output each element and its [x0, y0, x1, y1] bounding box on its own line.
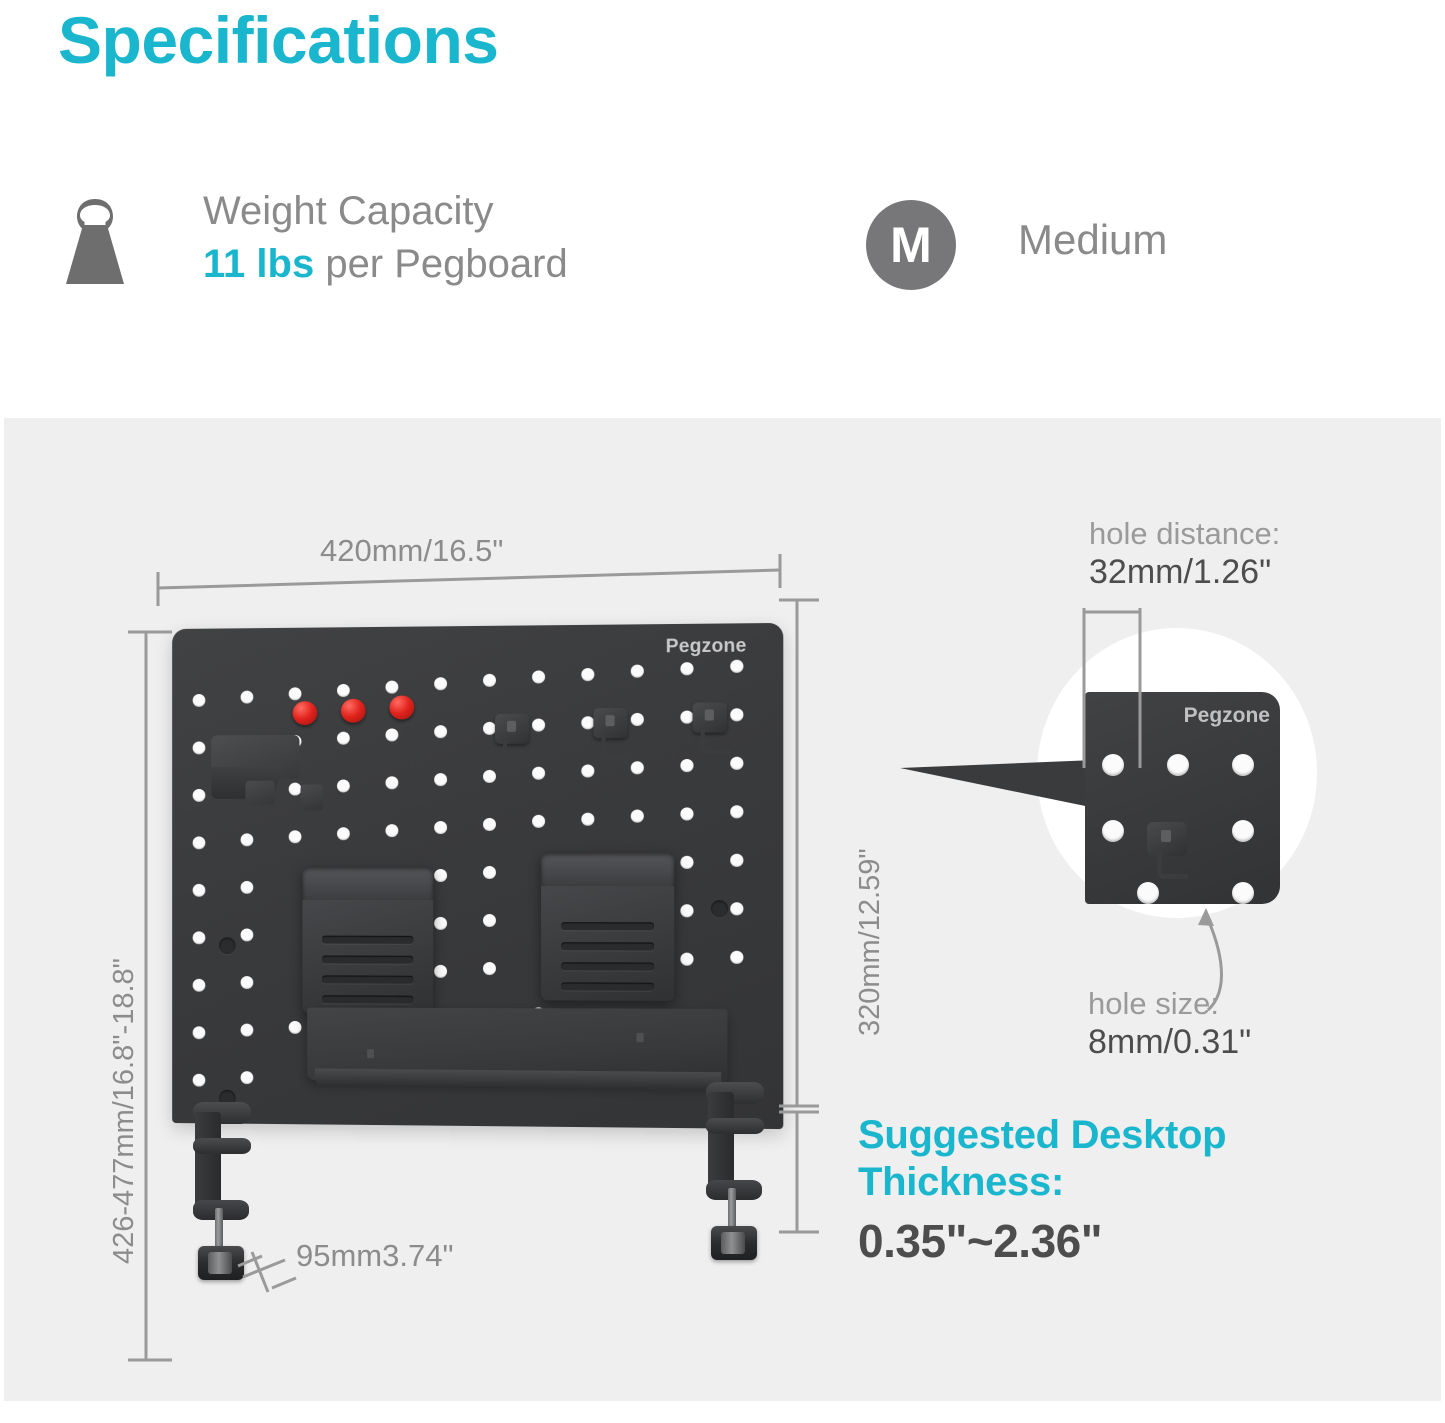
thickness-value: 0.35"~2.36" [858, 1214, 1328, 1268]
weight-capacity-number: 11 lbs [203, 242, 314, 286]
phone-holder-tab [245, 781, 274, 805]
red-peg [293, 701, 318, 725]
weight-capacity-spec: Weight Capacity 11 lbs per Pegboard [56, 185, 696, 305]
wall-hook [693, 702, 728, 732]
thickness-title-line1: Suggested Desktop [858, 1112, 1328, 1159]
pegboard-product: Pegzone [160, 614, 800, 1154]
magnified-hook-nub [1161, 830, 1171, 842]
magnified-hole [1232, 882, 1254, 904]
pegboard-panel: Pegzone [172, 623, 783, 1129]
brand-logo: Pegzone [666, 635, 747, 658]
storage-basket [302, 866, 433, 1014]
dimension-board-height: 320mm/12.59" [853, 848, 887, 1036]
red-peg [341, 699, 366, 723]
desktop-thickness-block: Suggested Desktop Thickness: 0.35"~2.36" [858, 1112, 1328, 1268]
phone-holder-clip [300, 785, 323, 811]
hole-distance-callout: hole distance: 32mm/1.26" [1089, 515, 1280, 593]
magnified-brand-logo: Pegzone [1184, 704, 1270, 728]
magnified-hole [1232, 754, 1254, 776]
hole-size-callout: hole size: 8mm/0.31" [1088, 985, 1251, 1063]
magnified-hole [1232, 820, 1254, 842]
hole-distance-label: hole distance: [1089, 515, 1280, 552]
specifications-page: Specifications Weight Capacity 11 lbs pe… [0, 0, 1445, 1423]
weight-capacity-label: Weight Capacity [203, 185, 568, 238]
magnified-hole [1167, 754, 1189, 776]
hole-size-value: 8mm/0.31" [1088, 1022, 1251, 1063]
size-badge: M [866, 200, 956, 290]
magnified-hole [1102, 820, 1124, 842]
hole-distance-value: 32mm/1.26" [1089, 552, 1280, 593]
red-peg [389, 695, 414, 719]
magnifier-pointer [900, 760, 1095, 808]
dimension-clamp-depth: 95mm3.74" [296, 1238, 453, 1275]
weight-icon [56, 195, 134, 287]
page-title: Specifications [58, 6, 498, 75]
weight-capacity-suffix: per Pegboard [314, 242, 568, 286]
dimension-width: 420mm/16.5" [320, 533, 503, 570]
wall-hook [593, 708, 627, 738]
magnified-hole [1102, 754, 1124, 776]
hole-size-label: hole size: [1088, 985, 1251, 1022]
weight-capacity-value: 11 lbs per Pegboard [203, 238, 568, 291]
storage-shelf [307, 1008, 727, 1085]
size-label: Medium [1018, 216, 1167, 264]
magnified-hook [1147, 822, 1187, 856]
thickness-title-line2: Thickness: [858, 1159, 1328, 1206]
dimension-height-range: 426-477mm/16.8"-18.8" [107, 958, 141, 1264]
magnified-hole [1137, 882, 1159, 904]
storage-basket [541, 852, 674, 1001]
wall-hook [495, 714, 529, 744]
